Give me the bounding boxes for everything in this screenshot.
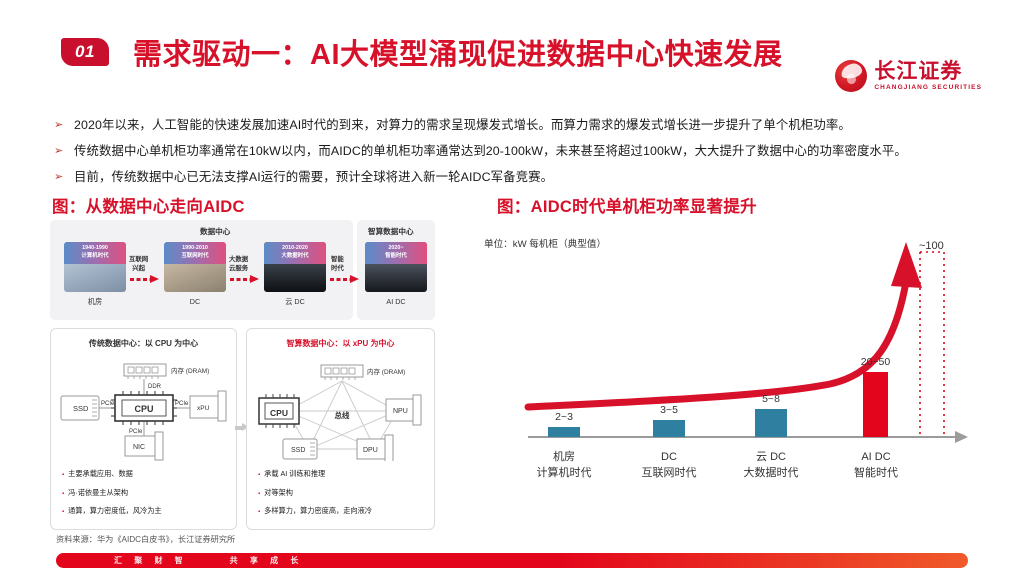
pcie-link-label: PCIe <box>101 401 115 407</box>
architecture-panel-title: 传统数据中心：以 CPU 为中心 <box>51 338 236 349</box>
evolution-node-dc: 1990-2010 互联网时代 DC <box>164 242 226 306</box>
evolution-node-era: 计算机时代 <box>64 252 126 260</box>
left-figure-title: 图：从数据中心走向AIDC <box>52 193 245 217</box>
x-tick-label: 机房 <box>504 450 624 466</box>
bullet-text: 2020年以来，人工智能的快速发展加速AI时代的到来，对算力的需求呈现爆发式增长… <box>74 118 851 133</box>
logo-text-block: 长江证券 CHANGJIANG SECURITIES <box>874 61 982 92</box>
evolution-node-band: 2020~ 智能时代 <box>365 242 427 264</box>
x-tick-jifang: 机房 计算机时代 <box>504 450 624 482</box>
bar-rect <box>548 427 580 437</box>
evolution-node-label: 机房 <box>64 297 126 307</box>
cpu-label: CPU <box>270 408 288 418</box>
evolution-arrow-icon <box>130 275 164 283</box>
projection-outline <box>920 252 944 437</box>
bus-label: 总线 <box>335 410 350 420</box>
footer-slogan-2: 共 享 成 长 <box>230 555 304 566</box>
chart-plot-area: 2~3 3~5 5~8 20~50 ~100 机房 计算机时代 <box>470 222 990 482</box>
nic-label: NIC <box>133 444 145 451</box>
bar-cloud-dc: 5~8 <box>755 409 787 437</box>
architecture-panel-traditional: 传统数据中心：以 CPU 为中心 <box>50 328 237 530</box>
evolution-arrow-icon <box>230 275 264 283</box>
architecture-note: 通算，算力密度低，风冷为主 <box>62 506 229 517</box>
transition-line-1: 大数据 <box>229 256 248 263</box>
chart-svg <box>470 222 990 482</box>
evolution-node-label: 云 DC <box>264 297 326 307</box>
evolution-node-thumbnail: 2020~ 智能时代 <box>365 242 427 292</box>
bullet-marker-icon: ➢ <box>52 118 74 133</box>
power-density-chart: 单位：kW 每机柜（典型值） 2~3 <box>470 222 990 482</box>
architecture-note: 承载 AI 训练和推理 <box>258 469 426 480</box>
evolution-node-thumbnail: 2010-2020 大数据时代 <box>264 242 326 292</box>
slide-root: 01 需求驱动一：AI大模型涌现促进数据中心快速发展 长江证券 CHANGJIA… <box>0 0 1024 576</box>
bar-rect <box>653 420 685 437</box>
bar-jifang: 2~3 <box>548 427 580 437</box>
bullet-marker-icon: ➢ <box>52 170 74 185</box>
evolution-node-band: 1940-1990 计算机时代 <box>64 242 126 264</box>
evolution-node-thumbnail: 1940-1990 计算机时代 <box>64 242 126 292</box>
x-tick-ai-dc: AI DC 智能时代 <box>816 450 936 482</box>
transition-line-1: 互联网 <box>129 256 148 263</box>
transition-line-2: 云服务 <box>229 265 248 272</box>
evolution-node-period: 2010-2020 <box>264 244 326 252</box>
evolution-node-band: 2010-2020 大数据时代 <box>264 242 326 264</box>
bullet-marker-icon: ➢ <box>52 144 74 159</box>
bullet-list: ➢ 2020年以来，人工智能的快速发展加速AI时代的到来，对算力的需求呈现爆发式… <box>52 118 982 196</box>
bar-value-label: 20~50 <box>861 356 891 368</box>
evolution-node-ai-dc: 2020~ 智能时代 AI DC <box>365 242 427 306</box>
memory-label: 内存 (DRAM) <box>171 366 209 375</box>
xpu-centric-diagram: 内存 (DRAM) CPU NPU SSD DPU 总线 <box>247 351 434 461</box>
evolution-node-label: DC <box>164 297 226 306</box>
memory-label: 内存 (DRAM) <box>367 367 405 376</box>
x-tick-sublabel: 智能时代 <box>816 466 936 482</box>
ssd-label: SSD <box>291 447 305 454</box>
dpu-label: DPU <box>363 447 378 454</box>
evolution-node-label: AI DC <box>365 297 427 306</box>
architecture-panel-intelligent: 智算数据中心：以 xPU 为中心 <box>246 328 435 530</box>
cpu-centric-diagram: 内存 (DRAM) CPU SSD xPU NIC DDR PCIe PCIe … <box>51 351 236 461</box>
architecture-comparison: 传统数据中心：以 CPU 为中心 <box>50 328 435 530</box>
evolution-transition-label: 互联网 兴起 <box>129 256 148 273</box>
evolution-transition-label: 智能 时代 <box>331 256 344 273</box>
x-tick-sublabel: 计算机时代 <box>504 466 624 482</box>
footer-banner: 汇 聚 财 智 共 享 成 长 <box>56 553 968 568</box>
page-title: 需求驱动一：AI大模型涌现促进数据中心快速发展 <box>133 31 783 73</box>
evolution-node-era: 智能时代 <box>365 252 427 260</box>
cpu-topology-svg: 内存 (DRAM) CPU SSD xPU NIC DDR PCIe PCIe … <box>51 351 238 461</box>
section-number-badge: 01 <box>61 38 109 66</box>
x-tick-label: AI DC <box>816 450 936 466</box>
evolution-node-cloud-dc: 2010-2020 大数据时代 云 DC <box>264 242 326 307</box>
bar-ai-dc: 20~50 <box>863 372 888 437</box>
memory-module-icon <box>124 364 166 379</box>
source-note: 资料来源：华为《AIDC白皮书》，长江证券研究所 <box>56 533 235 545</box>
evolution-node-period: 1990-2010 <box>164 244 226 252</box>
bullet-text: 传统数据中心单机柜功率通常在10kW以内，而AIDC的单机柜功率通常达到20-1… <box>74 144 907 159</box>
evolution-group-label-aidc: 智算数据中心 <box>368 226 414 237</box>
bar-dc: 3~5 <box>653 420 685 437</box>
pcie-link-label: PCIe <box>129 429 143 435</box>
x-tick-cloud-dc: 云 DC 大数据时代 <box>711 450 831 482</box>
evolution-node-period: 2020~ <box>365 244 427 252</box>
npu-label: NPU <box>393 408 408 415</box>
transition-line-1: 智能 <box>331 256 344 263</box>
architecture-notes-intelligent: 承载 AI 训练和推理 对等架构 多样算力，算力密度高，走向液冷 <box>258 469 426 525</box>
evolution-node-era: 互联网时代 <box>164 252 226 260</box>
bar-value-label: 2~3 <box>555 411 573 423</box>
evolution-node-jifang: 1940-1990 计算机时代 机房 <box>64 242 126 307</box>
architecture-notes-traditional: 主要承载应用、数据 冯·诺依曼主从架构 通算，算力密度低，风冷为主 <box>62 469 229 525</box>
evolution-node-band: 1990-2010 互联网时代 <box>164 242 226 264</box>
bar-value-label: 3~5 <box>660 404 678 416</box>
xpu-label: xPU <box>197 405 210 412</box>
evolution-transition-label: 大数据 云服务 <box>229 256 248 273</box>
x-axis-arrow-icon <box>955 431 968 443</box>
transition-line-2: 时代 <box>331 265 344 272</box>
bar-value-label: 5~8 <box>762 393 780 405</box>
architecture-note: 对等架构 <box>258 488 426 499</box>
architecture-note: 多样算力，算力密度高，走向液冷 <box>258 506 426 517</box>
xpu-topology-svg: 内存 (DRAM) CPU NPU SSD DPU 总线 <box>247 351 436 461</box>
trend-curve <box>528 282 906 407</box>
architecture-note: 主要承载应用、数据 <box>62 469 229 480</box>
bullet-item: ➢ 2020年以来，人工智能的快速发展加速AI时代的到来，对算力的需求呈现爆发式… <box>52 118 982 133</box>
evolution-group-label-dc: 数据中心 <box>200 226 230 237</box>
right-figure-title: 图：AIDC时代单机柜功率显著提升 <box>497 193 757 217</box>
trend-arrow-icon <box>891 242 922 288</box>
architecture-panel-title: 智算数据中心：以 xPU 为中心 <box>247 338 434 349</box>
evolution-node-era: 大数据时代 <box>264 252 326 260</box>
bar-rect <box>755 409 787 437</box>
architecture-note: 冯·诺依曼主从架构 <box>62 488 229 499</box>
left-figure: 数据中心 智算数据中心 1940-1990 计算机时代 机房 1990-2010 <box>50 220 435 530</box>
evolution-node-thumbnail: 1990-2010 互联网时代 <box>164 242 226 292</box>
cpu-label: CPU <box>134 404 153 414</box>
bullet-item: ➢ 目前，传统数据中心已无法支撑AI运行的需要，预计全球将进入新一轮AIDC军备… <box>52 170 982 185</box>
section-number-text: 01 <box>75 42 95 62</box>
transition-line-2: 兴起 <box>132 265 145 272</box>
pcie-link-label: PCIe <box>175 401 189 407</box>
evolution-arrow-icon <box>330 275 364 283</box>
evolution-diagram: 数据中心 智算数据中心 1940-1990 计算机时代 机房 1990-2010 <box>50 220 435 320</box>
logo-mark-icon <box>835 60 867 92</box>
footer-slogan-1: 汇 聚 财 智 <box>114 555 188 566</box>
bullet-item: ➢ 传统数据中心单机柜功率通常在10kW以内，而AIDC的单机柜功率通常达到20… <box>52 144 982 159</box>
logo-name-en: CHANGJIANG SECURITIES <box>874 85 982 92</box>
company-logo: 长江证券 CHANGJIANG SECURITIES <box>835 60 982 92</box>
evolution-node-period: 1940-1990 <box>64 244 126 252</box>
memory-module-icon <box>321 365 363 380</box>
x-tick-sublabel: 大数据时代 <box>711 466 831 482</box>
ssd-label: SSD <box>73 404 89 413</box>
bullet-text: 目前，传统数据中心已无法支撑AI运行的需要，预计全球将进入新一轮AIDC军备竞赛… <box>74 170 553 185</box>
x-tick-label: 云 DC <box>711 450 831 466</box>
bar-rect <box>863 372 888 437</box>
ddr-link-label: DDR <box>148 384 162 390</box>
slide-header: 01 需求驱动一：AI大模型涌现促进数据中心快速发展 长江证券 CHANGJIA… <box>0 26 1024 84</box>
projection-label: ~100 <box>919 240 944 252</box>
logo-name-cn: 长江证券 <box>874 61 982 82</box>
